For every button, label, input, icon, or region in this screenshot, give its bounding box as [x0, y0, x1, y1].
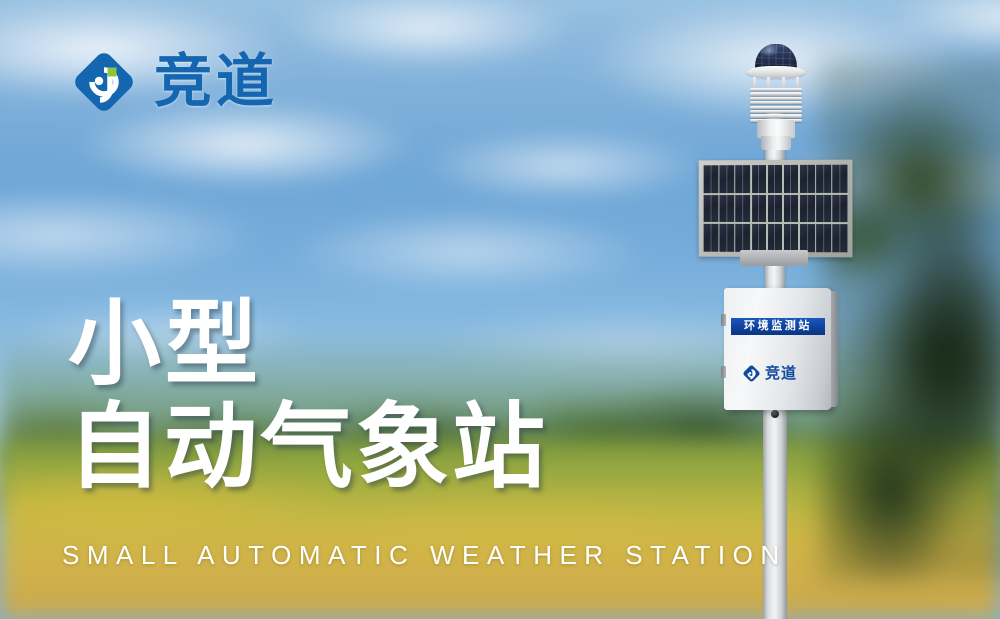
page-title: 小型 自动气象站 [68, 296, 548, 495]
page-subtitle: SMALL AUTOMATIC WEATHER STATION [62, 540, 787, 571]
product-banner: 竞道 [0, 0, 1000, 619]
control-box-logo-text: 竞道 [765, 366, 797, 381]
sensor-neck [761, 136, 791, 150]
control-box-banner-text: 环境监测站 [744, 321, 812, 332]
jingdao-diamond-logo-icon-small [742, 364, 761, 383]
control-box: 环境监测站 竞道 [724, 288, 832, 410]
title-line-1: 小型 [68, 296, 548, 393]
solar-panel-cells [704, 165, 848, 253]
solar-panel-bracket [740, 250, 808, 266]
control-box-hinge-upper [721, 314, 726, 326]
control-box-side [831, 291, 838, 407]
pole-bolt [771, 410, 779, 418]
control-box-banner: 环境监测站 [731, 318, 825, 335]
mounting-pole-lower [763, 405, 787, 619]
control-box-hinge-lower [721, 366, 726, 378]
title-line-2: 自动气象站 [68, 399, 548, 496]
solar-panel [699, 160, 853, 258]
louvered-radiation-shield [750, 88, 802, 122]
control-box-logo: 竞道 [742, 364, 797, 383]
